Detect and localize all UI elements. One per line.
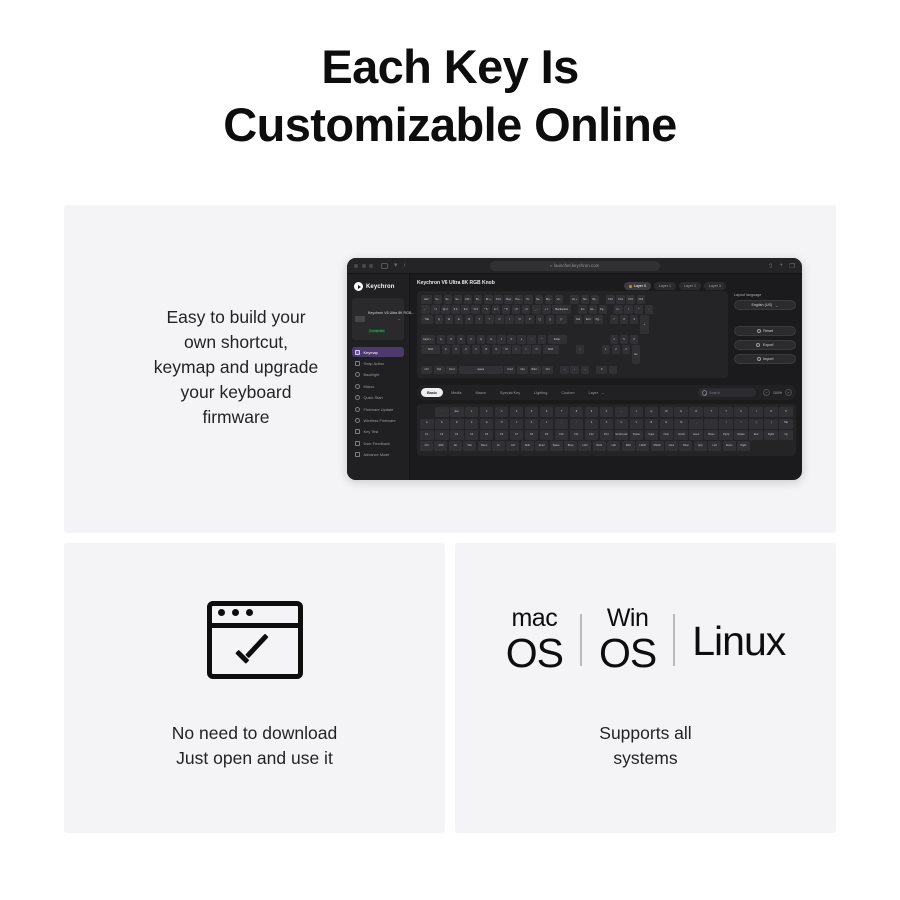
keyboard-key[interactable]: K	[507, 335, 516, 344]
keycode-button[interactable]: P	[779, 407, 793, 417]
keyboard-key[interactable]: $ 4	[461, 305, 470, 314]
keyboard-key[interactable]: Sc...	[444, 295, 453, 304]
brand: Keychron	[354, 282, 404, 291]
keycode-button[interactable]: O	[764, 407, 778, 417]
back-chevron-icon[interactable]: ‹	[404, 262, 406, 269]
keyboard-key[interactable]: O	[515, 315, 524, 324]
keyboard-key[interactable]: +	[640, 315, 649, 334]
keyboard-key[interactable]: Opt	[517, 366, 528, 375]
keyboard-key[interactable]: Ne...	[535, 295, 544, 304]
keycode-button[interactable]: F9	[540, 430, 554, 440]
tab-label: Basic	[427, 391, 437, 395]
keycode-button[interactable]: \	[734, 419, 748, 429]
snap-action-icon	[355, 361, 360, 366]
keyboard-key[interactable]: ? /	[532, 345, 541, 354]
keyboard-key[interactable]: Caps L...	[421, 335, 435, 344]
keyboard-key[interactable]: I	[505, 315, 514, 324]
keyboard-key[interactable]: Opt	[434, 366, 445, 375]
keyboard-key[interactable]: Backspace	[552, 305, 571, 314]
keyboard-key[interactable]: 3	[622, 345, 631, 354]
keycode-button[interactable]: F7	[510, 430, 524, 440]
keyboard-cluster-gap	[565, 295, 569, 304]
keyboard-key[interactable]: D	[457, 335, 466, 344]
keycode-picker[interactable]: `Esc1234567890-=QWERTYUIOPASDFGHJKL;'ZXC…	[417, 404, 796, 456]
import-icon	[757, 357, 761, 361]
caption-line-1: No need to download	[64, 721, 445, 746]
zoom-level: 100%	[773, 391, 782, 395]
keyboard-section: Keychron V6 Ultra 8K RGB Knob EscSc...Sc…	[417, 280, 796, 378]
keyboard-key[interactable]: .	[609, 366, 618, 375]
keycode-button[interactable]: 6	[540, 407, 554, 417]
keycode-button[interactable]: LCtrl	[578, 441, 591, 451]
keycode-button[interactable]: 2	[480, 407, 494, 417]
keyboard-key[interactable]: X	[452, 345, 461, 354]
keyboard-key[interactable]: →	[581, 366, 590, 375]
browser-window-check-icon	[207, 601, 303, 679]
keyboard-cluster-gap	[596, 345, 600, 364]
caption-line-2: systems	[455, 746, 836, 771]
keyboard-key[interactable]: S	[447, 335, 456, 344]
sidebar-item-snap-action[interactable]: Snap Action	[352, 358, 404, 368]
wireless-firmware-icon	[355, 418, 360, 423]
address-bar[interactable]: ⌕ launcher.keychron.com	[490, 261, 660, 271]
keycode-button[interactable]: LAlt	[607, 441, 620, 451]
sidebar-toggle-icon[interactable]	[381, 263, 388, 269]
keyboard-key[interactable]: ! 1	[431, 305, 440, 314]
keyboard-key[interactable]: Cmd	[504, 366, 515, 375]
keycode-button[interactable]: H	[495, 419, 509, 429]
keycode-button[interactable]: -	[615, 407, 629, 417]
keycode-button[interactable]: T	[704, 407, 718, 417]
keycode-button[interactable]: F11	[570, 430, 584, 440]
keycode-button[interactable]: A	[420, 419, 434, 429]
keyboard-key[interactable]: Pg...	[594, 315, 603, 324]
keycode-button[interactable]: Space	[550, 441, 563, 451]
keycode-button[interactable]: X	[600, 419, 614, 429]
feature-card-no-download: No need to download Just open and use it	[64, 543, 445, 833]
keyboard-key[interactable]: P	[525, 315, 534, 324]
keyboard-key[interactable]: Ctrl	[542, 366, 553, 375]
keyboard-key[interactable]: ( 9	[512, 305, 521, 314]
keycode-button[interactable]: Up	[779, 430, 793, 440]
keyboard-key[interactable]: ) 0	[522, 305, 531, 314]
keycode-button[interactable]: LGui	[665, 441, 678, 451]
keycode-button[interactable]: F	[465, 419, 479, 429]
keyboard-key[interactable]: L	[517, 335, 526, 344]
keyboard-cluster-gap	[601, 295, 605, 304]
keyboard-key[interactable]: ~ `	[421, 305, 430, 314]
keyboard-key[interactable]: 8	[620, 315, 629, 324]
keycode-button[interactable]: Right	[737, 441, 750, 451]
keycode-button[interactable]: .	[704, 419, 718, 429]
keyboard-key[interactable]: Br -	[474, 295, 483, 304]
tabs-icon[interactable]: ❐	[789, 262, 795, 270]
sidebar-item-backlight[interactable]: Backlight	[352, 370, 404, 380]
keyboard-key[interactable]: 2	[612, 345, 621, 354]
keyboard-key[interactable]: Sc...	[454, 295, 463, 304]
keyboard-key[interactable]: Y	[485, 315, 494, 324]
keycode-button[interactable]: F12	[585, 430, 599, 440]
app-main: Keychron V6 Ultra 8K RGB Knob EscSc...Sc…	[410, 274, 802, 480]
keycode-button[interactable]: Shift	[521, 441, 534, 451]
keyboard-key[interactable]: F14	[616, 295, 625, 304]
tab-basic[interactable]: Basic	[421, 388, 443, 397]
keycode-button[interactable]: F2	[435, 430, 449, 440]
search-input[interactable]: Search	[698, 388, 756, 397]
keyboard-column: Keychron V6 Ultra 8K RGB Knob EscSc...Sc…	[417, 280, 728, 378]
keyboard-key[interactable]: _ -	[532, 305, 541, 314]
keycode-button[interactable]: L	[540, 419, 554, 429]
keyboard-key[interactable]: C/P...	[464, 295, 473, 304]
layer-tabs: Layer 0 Layer 1 Layer 2 Layer 3	[624, 282, 726, 290]
keyboard-key[interactable]: 0	[596, 366, 607, 375]
advance-mode-icon	[355, 452, 360, 457]
keyboard-key[interactable]: /	[624, 305, 633, 314]
keycode-button[interactable]: 3	[495, 407, 509, 417]
tab-label: Layer	[589, 391, 599, 395]
keyboard-key[interactable]: End	[584, 315, 593, 324]
keycode-button[interactable]: B	[645, 419, 659, 429]
keycode-button[interactable]: Home	[704, 430, 718, 440]
keycode-button[interactable]: F8	[525, 430, 539, 440]
keyboard-key[interactable]: T	[475, 315, 484, 324]
sidebar-item-wireless-firmware[interactable]: Wireless Firmware	[352, 415, 404, 425]
keyboard-key[interactable]: * 8	[502, 305, 511, 314]
keycode-button[interactable]: M	[674, 419, 688, 429]
keyboard-key[interactable]: R	[465, 315, 474, 324]
keyboard-key[interactable]: ↓	[570, 366, 579, 375]
sidebar-item-label: Keymap	[364, 350, 378, 355]
keyboard-key[interactable]: ↑	[576, 345, 585, 354]
new-tab-icon[interactable]: +	[779, 262, 783, 269]
chevron-down-icon: ⌄	[775, 303, 778, 308]
keyboard-key[interactable]: F13	[606, 295, 615, 304]
keyboard-key[interactable]: Win/...	[530, 366, 541, 375]
keycode-button[interactable]: G	[480, 419, 494, 429]
keycode-button[interactable]: Scroll Lock	[615, 430, 629, 440]
keyboard-key[interactable]: U	[495, 315, 504, 324]
app-body: Keychron Keychron V6 Ultra 8K RGB... Con…	[347, 274, 802, 480]
sidebar-item-macro[interactable]: Macro	[352, 381, 404, 391]
tab-layer[interactable]: Layer ⌄	[583, 388, 611, 398]
keymap-icon	[355, 350, 360, 355]
layer-tab-1[interactable]: Layer 1	[654, 282, 676, 290]
keyboard-key[interactable]: E	[455, 315, 464, 324]
zoom-controls: − 100% +	[763, 389, 792, 396]
keyboard-key[interactable]: : ;	[527, 335, 536, 344]
keycode-button[interactable]: Y	[719, 407, 733, 417]
keyboard-key[interactable]: Shift	[543, 345, 559, 354]
keycode-button[interactable]: Z	[585, 419, 599, 429]
keyboard-key[interactable]: { [	[536, 315, 545, 324]
tab-special-key[interactable]: Special Key	[494, 388, 526, 397]
keyboard-key[interactable]: Z	[442, 345, 451, 354]
keyboard-row: ShiftZXCVBNM< ,> .? /Shift↑123En	[421, 345, 724, 364]
keyboard-row: ~ `! 1@ 2# 3$ 4% 5^ 6& 7* 8( 9) 0_ -+ =B…	[421, 305, 724, 314]
keycode-button[interactable]: C	[615, 419, 629, 429]
keyboard-key[interactable]: G	[477, 335, 486, 344]
keycode-button[interactable]: LShift	[636, 441, 649, 451]
chevron-down-icon[interactable]: ▾	[394, 262, 398, 269]
keyboard-key[interactable]: Ins	[578, 305, 587, 314]
keycode-button[interactable]: Win	[463, 441, 476, 451]
keyboard-row: EscSc...Sc...Sc...C/P...Br -Br +PrntMsgP…	[421, 295, 724, 304]
keyboard-key[interactable]: Vo +	[570, 295, 579, 304]
check-icon	[236, 641, 274, 663]
keycode-button[interactable]: RGui	[679, 441, 692, 451]
macro-icon	[355, 384, 360, 389]
keycode-button[interactable]: Insert	[689, 430, 703, 440]
keycode-button[interactable]: Scroll	[674, 430, 688, 440]
keyboard-key[interactable]: Cmd	[446, 366, 457, 375]
keycode-button[interactable]: R	[689, 407, 703, 417]
keycode-button[interactable]: F5	[480, 430, 494, 440]
keycode-button[interactable]: Num	[660, 430, 674, 440]
keyboard-key[interactable]: % 5	[471, 305, 480, 314]
tab-lighting[interactable]: Lighting	[528, 388, 553, 397]
keycode-button[interactable]: Ctrl	[506, 441, 519, 451]
keycode-picker-row: F1F2F3F4F5F6F7F8F9F10F11F12PrntScroll Lo…	[420, 430, 793, 440]
address-bar-url: launcher.keychron.com	[554, 263, 599, 268]
share-icon[interactable]: ⇧	[768, 262, 773, 270]
keycode-button[interactable]: ,	[689, 419, 703, 429]
reset-button[interactable]: Reset	[734, 326, 796, 336]
keycode-button[interactable]: Bksp	[564, 441, 577, 451]
sidebar-item-firmware-update[interactable]: Firmware Update	[352, 404, 404, 414]
keycode-picker-row: CtrlShiftAltWinMenuFnCtrlShiftEnterSpace…	[420, 441, 793, 451]
sidebar-item-advance-mode[interactable]: Advance Mode	[352, 449, 404, 459]
feature-card-os-support: mac OS Win OS Linux Supports all systems	[455, 543, 836, 833]
keyboard-key[interactable]: -	[645, 305, 654, 314]
keycode-button[interactable]: 8	[570, 407, 584, 417]
keycode-button[interactable]: U	[734, 407, 748, 417]
layer-tab-0[interactable]: Layer 0	[624, 282, 651, 290]
keyboard-key[interactable]: Msg	[504, 295, 513, 304]
keyboard-key[interactable]: 1	[602, 345, 611, 354]
keyboard-key[interactable]: Del	[574, 315, 583, 324]
keyboard-key[interactable]: Shift	[421, 345, 440, 354]
keycode-category-tabs: Basic Media Macro Special Key Lighting C…	[417, 385, 796, 400]
zoom-out-button[interactable]: −	[763, 389, 770, 396]
keyboard-key[interactable]: Sc...	[434, 295, 443, 304]
keycode-button[interactable]: 0	[600, 407, 614, 417]
layer-tab-3[interactable]: Layer 3	[704, 282, 726, 290]
keycode-button[interactable]: App	[694, 441, 707, 451]
keycode-button[interactable]: RShift	[651, 441, 664, 451]
keyboard-key[interactable]: Tab	[421, 315, 433, 324]
keyboard-key[interactable]: F15	[626, 295, 635, 304]
keyboard-key[interactable]: | \	[556, 315, 567, 324]
tab-custom[interactable]: Custom	[555, 388, 580, 397]
keycode-button[interactable]: ;	[555, 419, 569, 429]
keycode-button[interactable]: Alt	[449, 441, 462, 451]
search-icon	[702, 390, 707, 395]
keyboard-key[interactable]: 7	[610, 315, 619, 324]
keyboard-key[interactable]: 5	[620, 335, 629, 344]
keycode-button[interactable]: Enter	[535, 441, 548, 451]
keyboard-key[interactable]: 4	[610, 335, 619, 344]
macos-logo-top: mac	[511, 606, 557, 631]
keyboard-key[interactable]: V	[472, 345, 481, 354]
keyboard-key[interactable]: F16	[637, 295, 646, 304]
chevron-down-icon[interactable]: ⌄	[397, 316, 401, 322]
keycode-button[interactable]: F4	[465, 430, 479, 440]
keyboard-key[interactable]: @ 2	[441, 305, 450, 314]
sidebar-item-label: Quick Start	[364, 395, 383, 400]
keycode-button[interactable]: Delete	[734, 430, 748, 440]
keyboard-key[interactable]: F	[467, 335, 476, 344]
sidebar-item-key-test[interactable]: Key Test	[352, 427, 404, 437]
tab-media[interactable]: Media	[445, 388, 467, 397]
keyboard-key[interactable]: ^ 6	[482, 305, 491, 314]
keycode-button[interactable]: I	[749, 407, 763, 417]
keyboard-key[interactable]: Mu...	[545, 295, 554, 304]
layout-language-select[interactable]: English (US) ⌄	[734, 300, 796, 310]
divider	[673, 614, 675, 666]
keycode-button[interactable]: Pause	[630, 430, 644, 440]
keyboard-key[interactable]: 9	[630, 315, 639, 324]
keycode-button[interactable]: 1	[465, 407, 479, 417]
import-label: Import	[763, 357, 773, 361]
quick-start-icon	[355, 395, 360, 400]
keyboard-key[interactable]: Pg...	[599, 305, 608, 314]
linux-logo-label: Linux	[692, 621, 785, 662]
tab-macro[interactable]: Macro	[469, 388, 492, 397]
keycode-button[interactable]: K	[525, 419, 539, 429]
icon-titlebar-separator	[207, 623, 303, 628]
sidebar-item-quick-start[interactable]: Quick Start	[352, 393, 404, 403]
keycode-button[interactable]: F3	[450, 430, 464, 440]
copy-line-5: firmware	[102, 405, 370, 430]
layer-tab-2[interactable]: Layer 2	[679, 282, 701, 290]
keyboard-key[interactable]: A	[437, 335, 446, 344]
sidebar-item-keymap[interactable]: Keymap	[352, 347, 404, 357]
keycode-button[interactable]: 9	[585, 407, 599, 417]
keyboard-key[interactable]: Vo -	[555, 295, 564, 304]
keycode-button[interactable]: Menu	[478, 441, 491, 451]
keycode-button[interactable]: W	[660, 407, 674, 417]
keycode-button[interactable]: End	[749, 430, 763, 440]
keycode-button[interactable]: F6	[495, 430, 509, 440]
keyboard-key[interactable]: Enter	[548, 335, 567, 344]
firmware-update-icon	[355, 407, 360, 412]
keycode-button[interactable]: Ctrl	[420, 441, 433, 451]
keycode-button-empty	[780, 441, 793, 451]
caption-line-2: Just open and use it	[64, 746, 445, 771]
keycode-button[interactable]: N	[660, 419, 674, 429]
zoom-in-button[interactable]: +	[785, 389, 792, 396]
keycode-button[interactable]: ]	[764, 419, 778, 429]
keyboard-key[interactable]: Ho...	[589, 305, 598, 314]
sidebar-item-user-feedback[interactable]: User Feedback	[352, 438, 404, 448]
keycode-button[interactable]: Left	[708, 441, 721, 451]
keyboard-key[interactable]: > .	[522, 345, 531, 354]
macos-logo-bottom: OS	[506, 633, 563, 674]
keyboard-key-empty	[586, 345, 595, 354]
linux-logo: Linux	[692, 619, 785, 662]
keyboard-key[interactable]: 6	[630, 335, 639, 344]
import-button[interactable]: Import	[734, 354, 796, 364]
copy-line-3: keymap and upgrade	[102, 355, 370, 380]
keycode-button[interactable]: Caps	[645, 430, 659, 440]
keyboard-key[interactable]: Ctrl	[421, 366, 432, 375]
keyboard-key[interactable]: space	[459, 366, 503, 375]
keyboard-key[interactable]: Q	[435, 315, 444, 324]
keycode-button[interactable]: S	[435, 419, 449, 429]
keycode-button[interactable]: Fn	[492, 441, 505, 451]
keycode-button[interactable]: '	[570, 419, 584, 429]
export-button[interactable]: Export	[734, 340, 796, 350]
keycode-button[interactable]: 5	[525, 407, 539, 417]
keyboard-key[interactable]: " '	[538, 335, 547, 344]
keycode-button[interactable]: /	[719, 419, 733, 429]
keyboard-key[interactable]: } ]	[546, 315, 555, 324]
device-selector[interactable]: Keychron V6 Ultra 8K RGB... Connected ⌄	[352, 298, 404, 340]
keyboard-key[interactable]: *	[634, 305, 643, 314]
keyboard-key[interactable]: Pl...	[524, 295, 533, 304]
keyboard-key[interactable]: N...	[614, 305, 623, 314]
keycode-button[interactable]: Shift	[434, 441, 447, 451]
keycode-button[interactable]: `	[435, 407, 449, 417]
keyboard-key[interactable]: Wi...	[591, 295, 600, 304]
keycode-button-empty	[766, 441, 779, 451]
keycode-button[interactable]: D	[450, 419, 464, 429]
keycode-button[interactable]: =	[630, 407, 644, 417]
keycode-button[interactable]: [	[749, 419, 763, 429]
keyboard-key[interactable]: M	[502, 345, 511, 354]
sidebar-item-label: Wireless Firmware	[364, 418, 396, 423]
keyboard-key[interactable]: N	[492, 345, 501, 354]
keyboard-key[interactable]: Esc	[421, 295, 432, 304]
keycode-button[interactable]: Prnt	[600, 430, 614, 440]
keyboard-key[interactable]: Prnt	[494, 295, 503, 304]
keyboard-key[interactable]: Br +	[484, 295, 493, 304]
keyboard-key[interactable]: # 3	[451, 305, 460, 314]
keycode-button[interactable]: Q	[645, 407, 659, 417]
keyboard-key[interactable]: + =	[542, 305, 551, 314]
keyboard-key[interactable]: H	[487, 335, 496, 344]
keyboard-key[interactable]: En	[632, 345, 641, 364]
keycode-button[interactable]: 7	[555, 407, 569, 417]
keycode-button[interactable]: Esc	[450, 407, 464, 417]
browser-toolbar: ▾ ‹ ⌕ launcher.keychron.com ⇧ + ❐	[347, 258, 802, 274]
export-label: Export	[763, 343, 774, 347]
keyboard-layout[interactable]: EscSc...Sc...Sc...C/P...Br -Br +PrntMsgP…	[417, 291, 728, 378]
keycode-button[interactable]: 4	[510, 407, 524, 417]
keyboard-key[interactable]: Siri	[581, 295, 590, 304]
keycode-button[interactable]: Tab	[779, 419, 793, 429]
keycode-button[interactable]: PgUp	[719, 430, 733, 440]
keycode-button[interactable]: Down	[723, 441, 736, 451]
keycode-button[interactable]: F1	[420, 430, 434, 440]
keycode-button[interactable]: E	[674, 407, 688, 417]
keyboard-key[interactable]: J	[497, 335, 506, 344]
keycode-button[interactable]: PgDn	[764, 430, 778, 440]
keyboard-key[interactable]: Pre...	[514, 295, 523, 304]
keyboard-key[interactable]: W	[445, 315, 454, 324]
keyboard-key[interactable]: C	[462, 345, 471, 354]
keycode-button[interactable]: V	[630, 419, 644, 429]
keyboard-key[interactable]: < ,	[512, 345, 521, 354]
keycode-button[interactable]: RAlt	[622, 441, 635, 451]
keycode-button[interactable]: RCtrl	[593, 441, 606, 451]
keyboard-key[interactable]: B	[482, 345, 491, 354]
keycode-button[interactable]: F10	[555, 430, 569, 440]
keyboard-key[interactable]: & 7	[492, 305, 501, 314]
keyboard-key[interactable]: ←	[560, 366, 569, 375]
keyboard-key-empty	[594, 335, 603, 344]
keycode-button[interactable]: J	[510, 419, 524, 429]
